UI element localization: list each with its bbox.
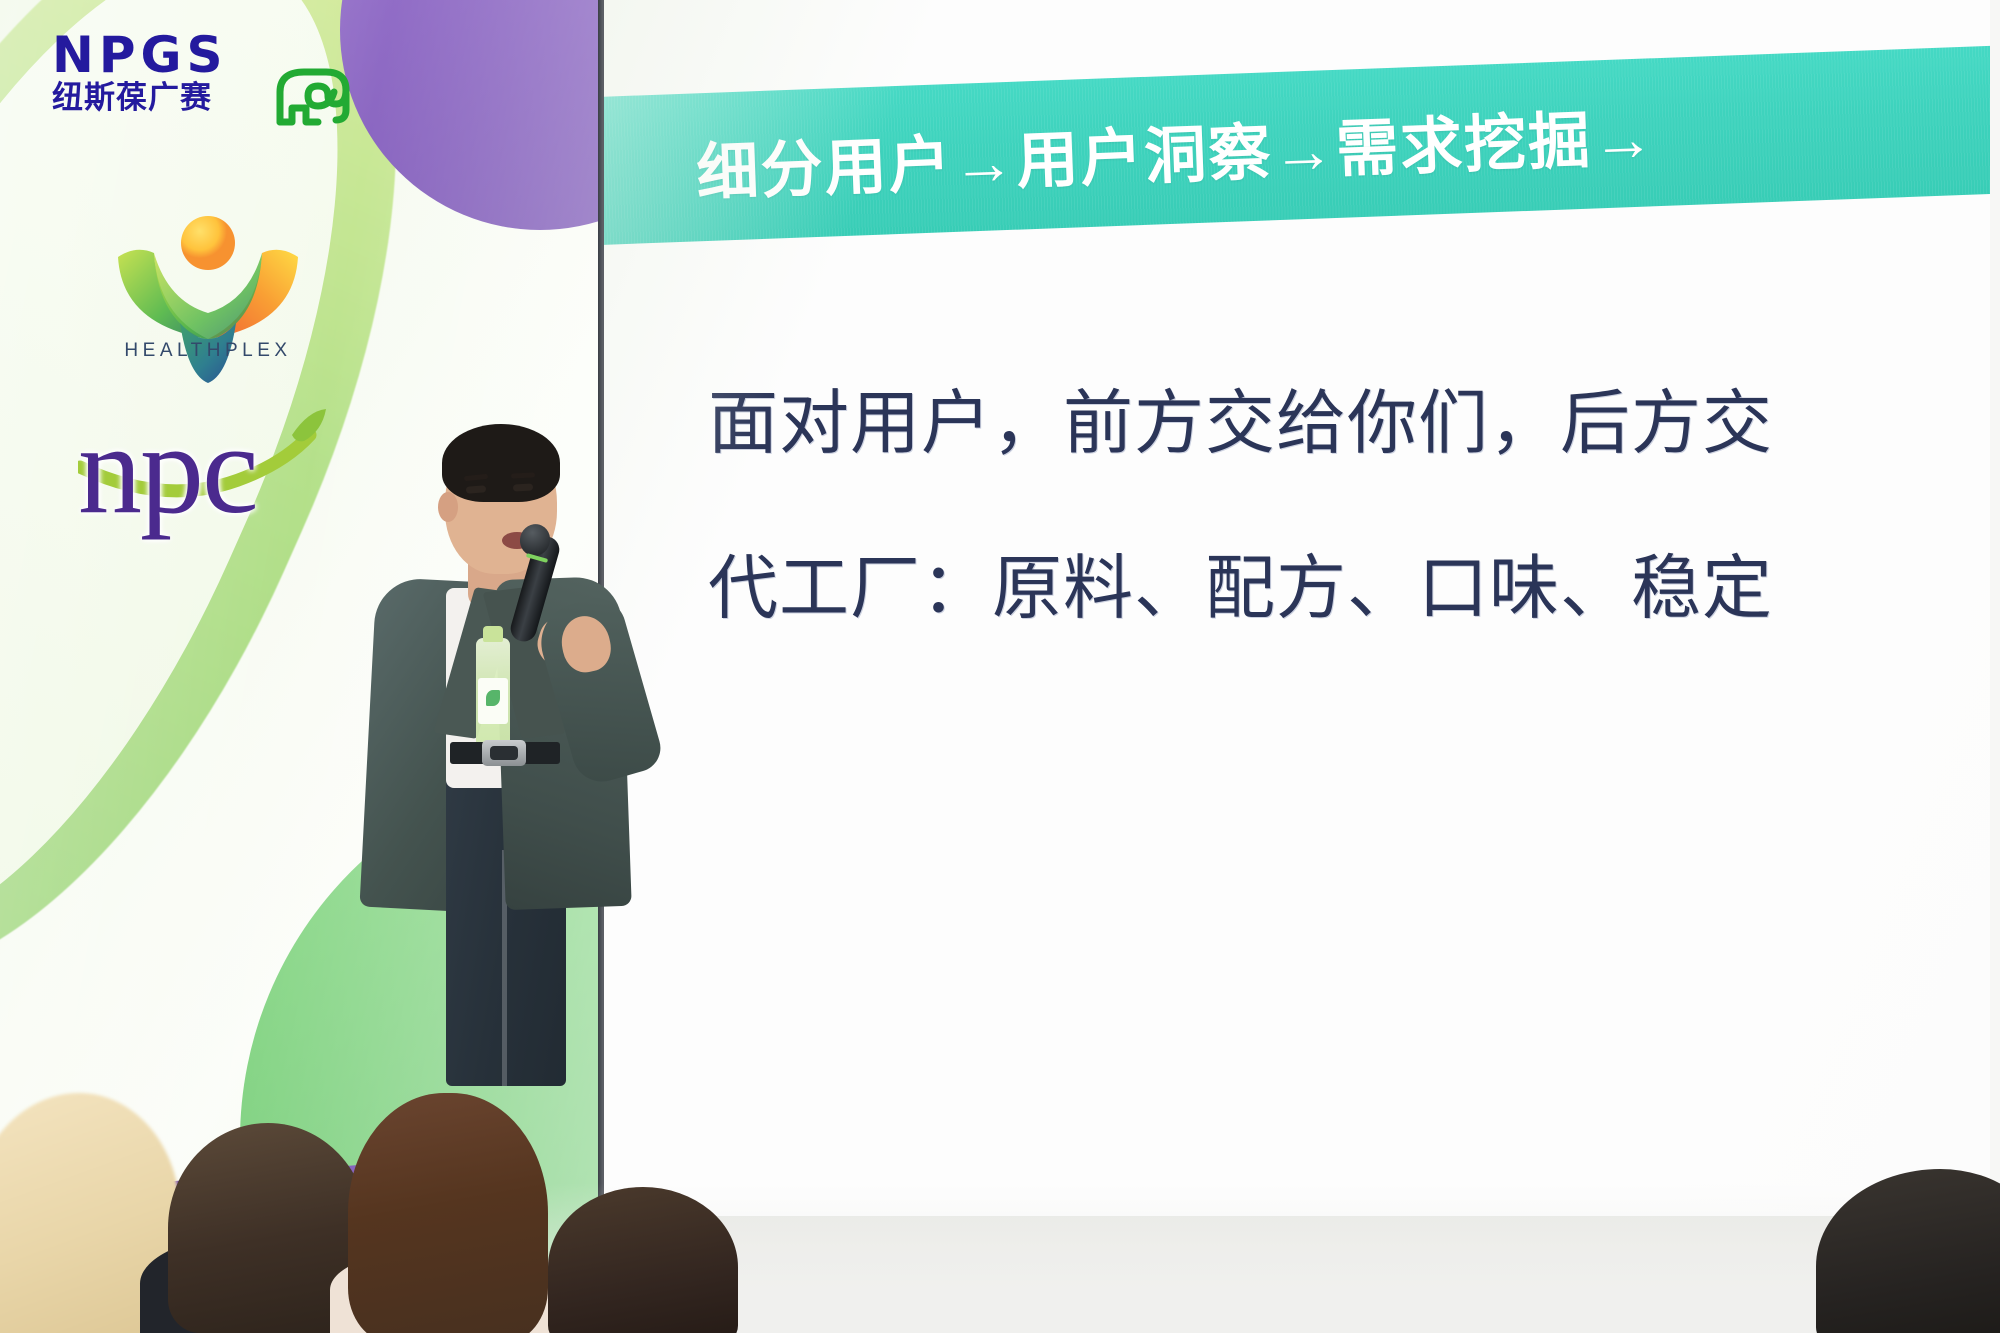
npgs-logo: NPGS 纽斯葆广赛 [52, 30, 342, 120]
speaker-eye-right [513, 483, 533, 491]
speaker-ear [438, 492, 458, 522]
healthplex-wordmark: HEALTHPLEX [88, 340, 328, 362]
room-right-wall [1990, 0, 2000, 1333]
speaker-belt-buckle-inner [490, 746, 518, 760]
slide-banner-text: 细分用户→用户洞察→需求挖掘→ [695, 87, 1658, 212]
npc-logo: npc [78, 405, 328, 540]
slide-body-line-1: 面对用户，前方交给你们，后方交 [708, 367, 1773, 468]
product-bottle-cap [483, 626, 503, 642]
slide-banner: 细分用户→用户洞察→需求挖掘→ [604, 42, 2000, 246]
presentation-photo: NPGS 纽斯葆广赛 [0, 0, 2000, 1333]
audience-member-dark-hair [548, 1187, 738, 1333]
product-bottle-leaf-mark [486, 690, 500, 706]
speaker-figure [350, 420, 680, 1080]
slide-body-line-2: 代工厂：原料、配方、口味、稳定 [708, 532, 1773, 633]
speaker-hair [442, 424, 560, 502]
projection-screen: 细分用户→用户洞察→需求挖掘→ 面对用户，前方交给你们，后方交 代工厂：原料、配… [604, 0, 2000, 1217]
speaker-eye-left [466, 485, 486, 493]
green-elephant-leaf-icon [270, 64, 362, 126]
npc-wordmark: npc [78, 405, 257, 533]
audience-member-long-hair [348, 1093, 548, 1333]
hall-floor [604, 1216, 2000, 1333]
